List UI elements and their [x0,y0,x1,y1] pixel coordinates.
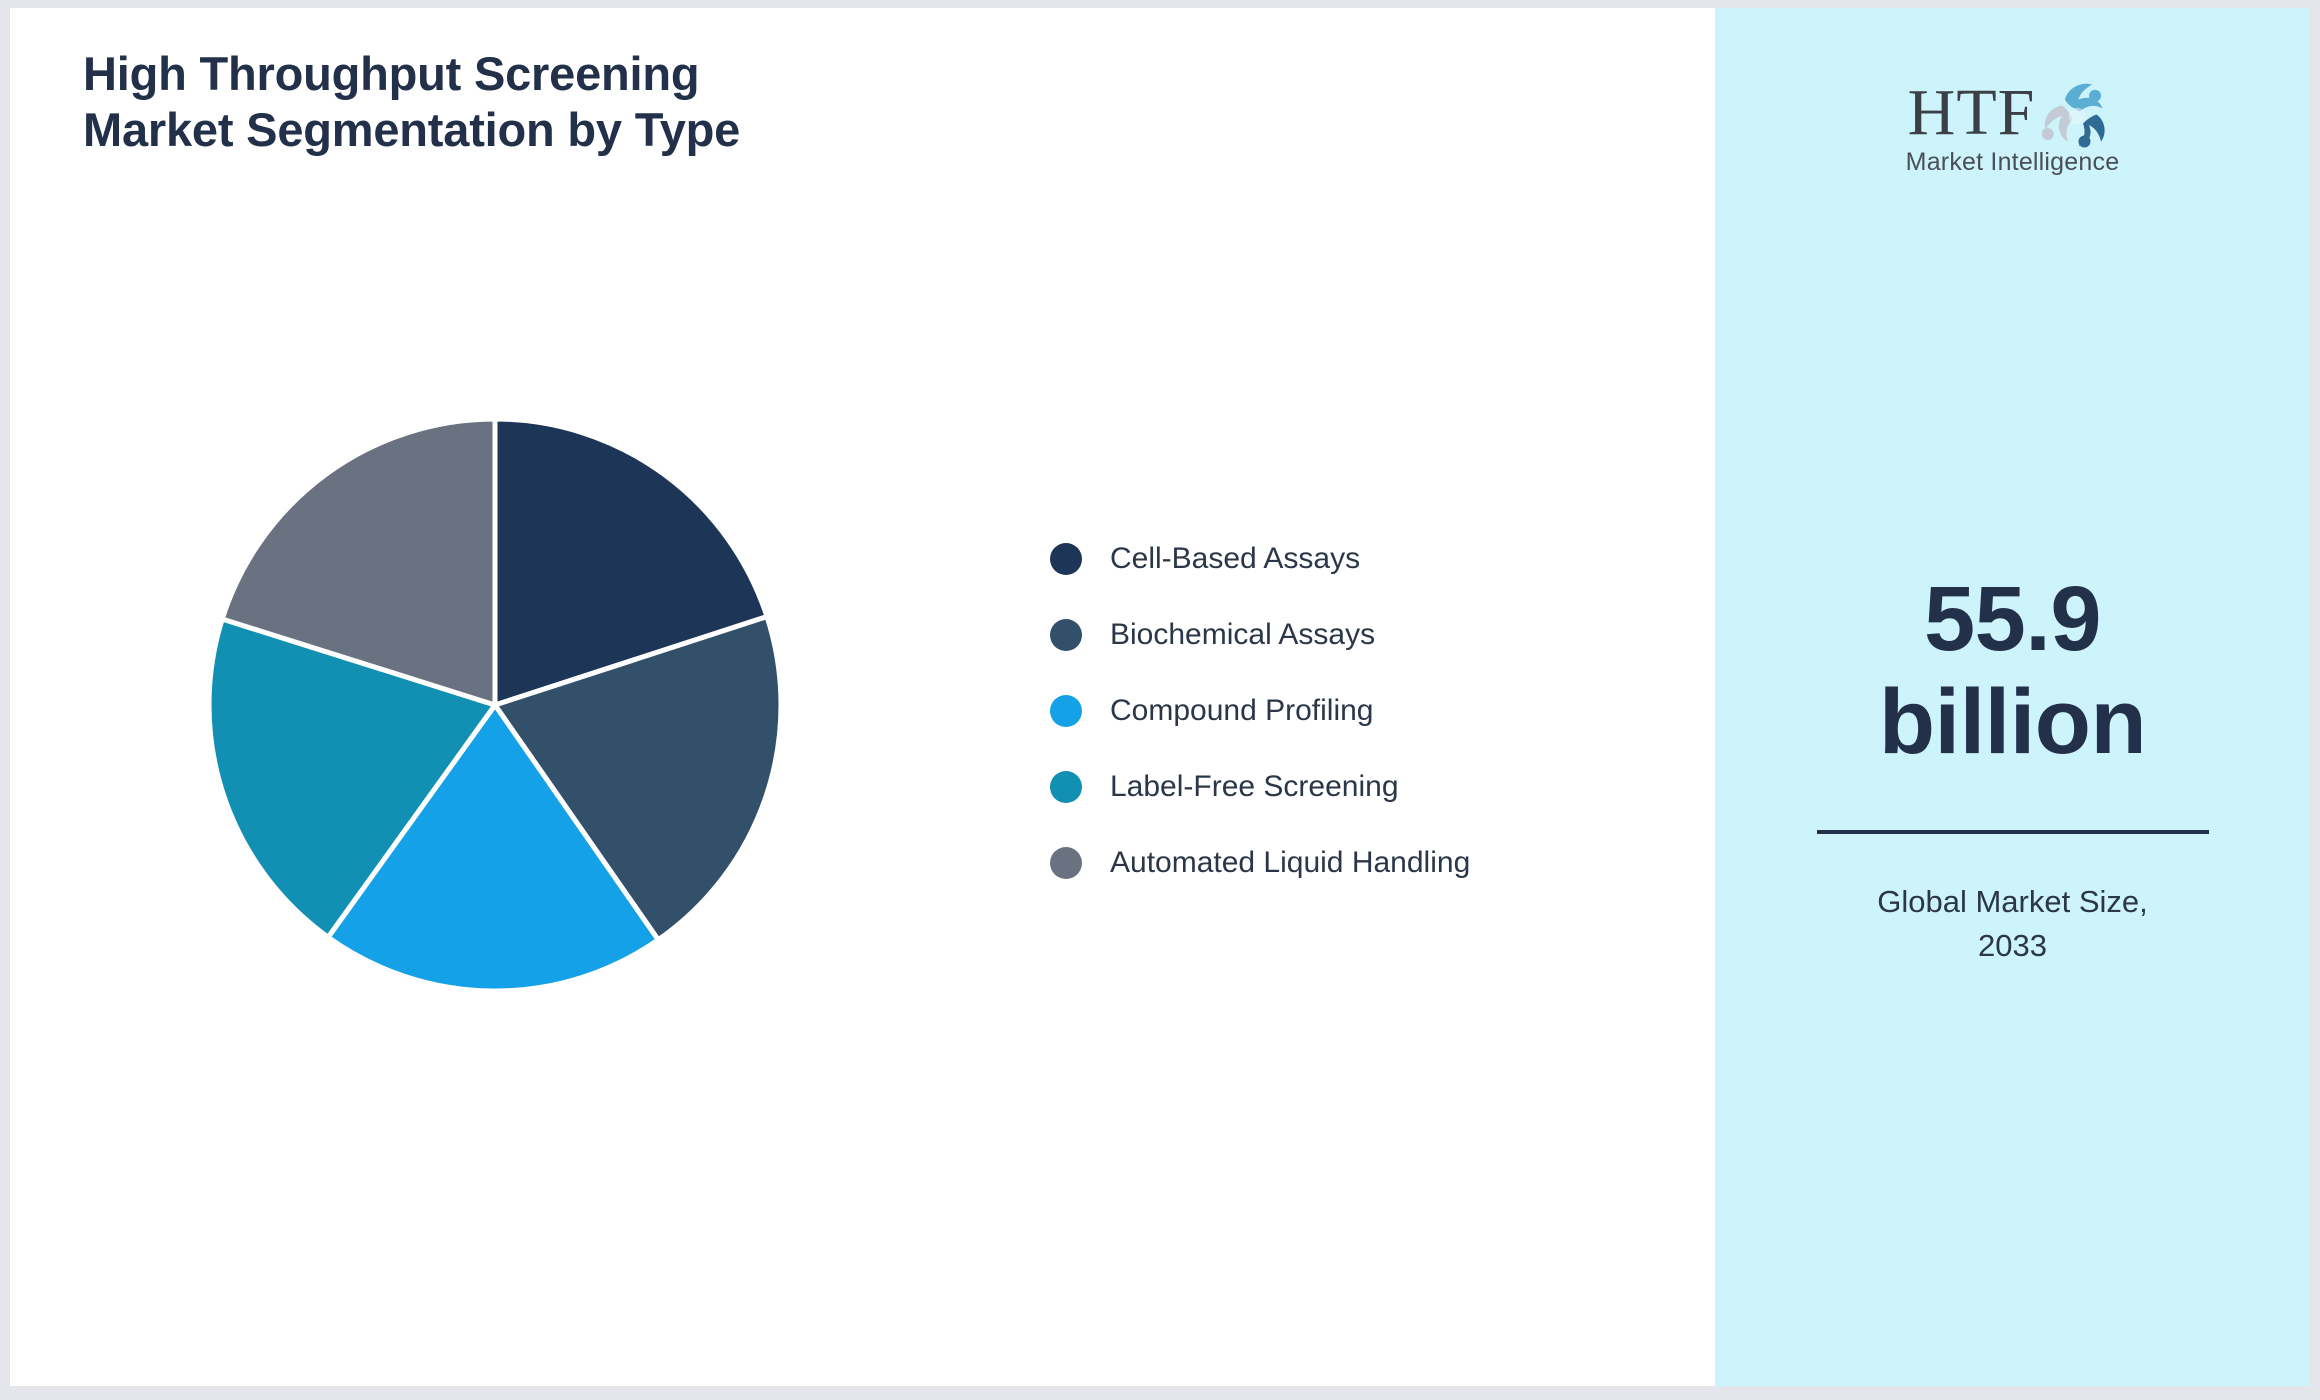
legend-swatch-icon [1050,695,1082,727]
legend-label: Automated Liquid Handling [1110,846,1470,880]
legend-swatch-icon [1050,771,1082,803]
legend-label: Compound Profiling [1110,694,1373,728]
stat-divider [1817,830,2209,834]
legend-label: Cell-Based Assays [1110,542,1360,576]
legend-label: Biochemical Assays [1110,618,1375,652]
infographic-card: High Throughput Screening Market Segment… [10,8,2310,1386]
stat-panel: HTF [1715,8,2310,1386]
htf-logo: HTF [1715,80,2310,177]
legend-swatch-icon [1050,543,1082,575]
logo-subtitle: Market Intelligence [1906,148,2120,177]
stat-caption-line-1: Global Market Size, [1805,880,2220,924]
pie-svg [207,417,783,993]
logo-row: HTF [1908,80,2118,146]
stat-caption: Global Market Size, 2033 [1715,880,2310,968]
legend-item[interactable]: Cell-Based Assays [1050,521,1470,597]
logo-wordmark: HTF [1908,80,2036,146]
pie-chart: Cell-Based AssaysBiochemical AssaysCompo… [10,8,1715,1386]
chart-legend: Cell-Based AssaysBiochemical AssaysCompo… [1050,521,1470,901]
pie-chart-graphic [207,417,783,993]
market-size-stat: 55.9 billion Global Market Size, 2033 [1715,568,2310,968]
legend-label: Label-Free Screening [1110,770,1399,804]
htf-triskelion-icon [2037,77,2117,149]
legend-swatch-icon [1050,619,1082,651]
chart-panel: High Throughput Screening Market Segment… [10,8,1715,1386]
legend-item[interactable]: Biochemical Assays [1050,597,1470,673]
legend-item[interactable]: Label-Free Screening [1050,749,1470,825]
legend-swatch-icon [1050,847,1082,879]
stat-caption-line-2: 2033 [1805,924,2220,968]
stat-value-line-2: billion [1715,671,2310,774]
legend-item[interactable]: Compound Profiling [1050,673,1470,749]
legend-item[interactable]: Automated Liquid Handling [1050,825,1470,901]
stat-value-line-1: 55.9 [1715,568,2310,671]
